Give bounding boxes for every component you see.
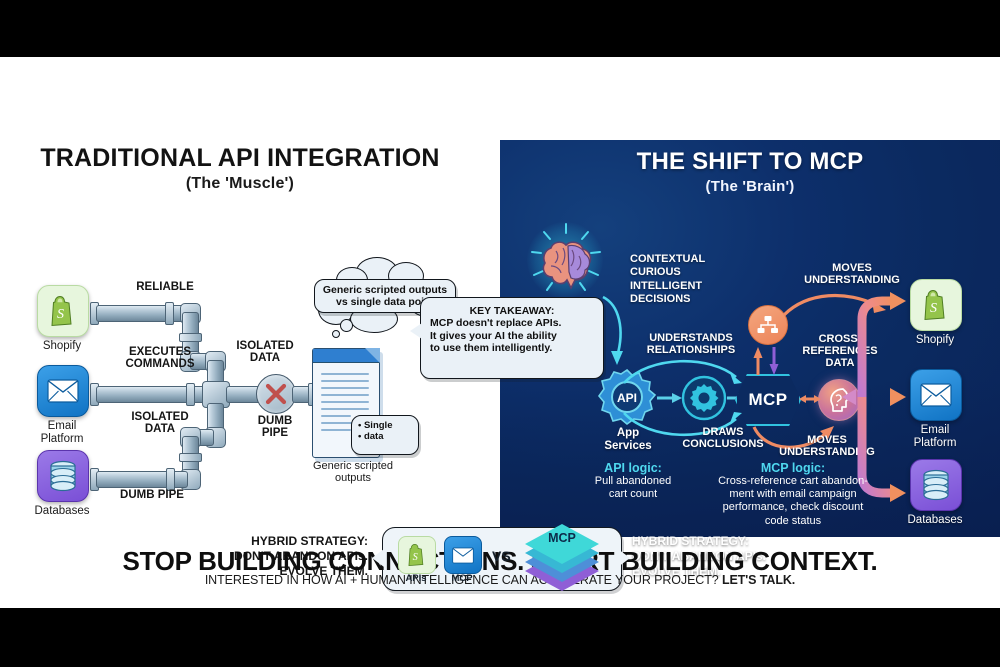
pipe-label-isolated-data-mid: ISOLATED DATA [105,411,215,436]
key-takeaway-heading: KEY TAKEAWAY: [430,305,594,317]
key-takeaway-tail-right [583,323,595,339]
pipe-flange [179,453,202,462]
target-tile-shopify[interactable]: S [910,279,962,331]
right-panel-title: THE SHIFT TO MCP [530,149,970,174]
svg-text:S: S [930,301,937,316]
glowing-brain-icon [525,220,607,302]
envelope-icon [452,547,474,564]
document-caption: Generic scripted outputs [298,460,408,484]
mcp-logic-line2: ment with email campaign [700,488,886,501]
api-logic-heading: API logic: [572,461,694,475]
pipe-label-dumb-pipe-bottom: DUMB PIPE [92,489,212,501]
pipe-flange [186,383,195,406]
target-label-databases: Databases [890,514,980,527]
mcp-logic-block: MCP logic: Cross-reference cart abandon-… [700,461,886,528]
source-tile-shopify[interactable]: S [37,285,89,337]
mcp-hex-label: MCP [749,390,788,410]
hybrid-caption-mcp: MCP [439,573,485,584]
right-panel-subtitle: (The 'Brain') [530,178,970,195]
pipe-label-reliable: RELIABLE [110,281,220,293]
pipe-flange [179,333,202,342]
sitemap-icon [757,315,779,335]
svg-text:S: S [57,307,64,322]
key-takeaway-callout: KEY TAKEAWAY: MCP doesn't replace APIs. … [420,297,604,379]
database-cylinder-icon [921,469,951,501]
hybrid-tile-mcp[interactable] [444,536,482,574]
hybrid-caption-apis: APIs [393,573,439,584]
document-corner-fold [365,348,380,363]
pipe-label-executes-commands: EXECUTES COMMANDS [105,346,215,371]
key-takeaway-line3: to use them intelligently. [430,342,594,354]
doc-callout-item2: • data [358,431,412,442]
infographic-canvas: TRADITIONAL API INTEGRATION (The 'Muscle… [0,0,1000,667]
pipe-label-dumb-pipe-valve: DUMB PIPE [230,415,320,440]
key-takeaway-tail-left [410,323,422,339]
shopify-bag-icon: S [921,289,951,321]
mcp-logic-heading: MCP logic: [700,461,886,475]
api-logic-block: API logic: Pull abandoned cart count [572,461,694,501]
label-understands-relationships: UNDERSTANDS RELATIONSHIPS [626,333,756,357]
svg-text:API: API [617,391,637,405]
api-logic-line1: Pull abandoned [572,475,694,488]
left-panel-subtitle: (The 'Muscle') [30,175,450,193]
envelope-icon [920,383,952,407]
target-label-email: Email Platform [890,424,980,449]
hybrid-card-tail-right [618,549,630,567]
brain-keyword-curious: CURIOUS [630,266,770,279]
envelope-icon [47,379,79,403]
source-label-shopify: Shopify [17,340,107,353]
api-to-gear-arrow [657,390,683,406]
x-cross-icon [265,383,287,405]
pipe-flange [165,302,174,325]
api-logic-line2: cart count [572,488,694,501]
infographic-body: TRADITIONAL API INTEGRATION (The 'Muscle… [0,57,1000,608]
svg-text:S: S [413,552,418,563]
understands-relationships-arc [620,353,750,387]
mcp-logic-line1: Cross-reference cart abandon- [700,475,886,488]
pipe-label-isolated-data-top: ISOLATED DATA [215,340,315,365]
thought-tail-bubble-small [332,330,340,338]
source-tile-databases[interactable] [37,450,89,502]
target-tile-email[interactable] [910,369,962,421]
doc-callout-item1: • Single [358,420,412,431]
key-takeaway-line1: MCP doesn't replace APIs. [430,317,594,329]
database-cylinder-icon [48,460,78,492]
mcp-logic-line3: performance, check discount [700,501,886,514]
hybrid-card-tail-left [372,549,384,567]
source-label-email-l2: Platform [17,433,107,446]
footer-subline: INTERESTED IN HOW AI + HUMAN INTELLIGENC… [0,573,1000,587]
mcp-logic-line4: code status [700,515,886,528]
thought-bubble-line1: Generic scripted outputs [323,284,447,296]
shopify-bag-icon: S [48,295,78,327]
source-tile-email[interactable] [37,365,89,417]
shopify-bag-icon: S [406,543,428,567]
hybrid-vs-label: VS [492,548,511,564]
mcp-layer-stack[interactable]: MCP [519,522,607,594]
mcp-aihead-double-arrow [799,391,821,407]
target-tile-databases[interactable] [910,459,962,511]
source-label-email: Email Platform [17,420,107,445]
target-label-shopify: Shopify [890,334,980,347]
key-takeaway-line2: It gives your AI the ability [430,330,594,342]
source-label-email-l1: Email [17,420,107,433]
left-panel-title: TRADITIONAL API INTEGRATION [30,145,450,171]
pipe-flange [166,468,175,491]
hybrid-tile-apis[interactable]: S [398,536,436,574]
dumb-pipe-valve[interactable] [256,374,296,414]
mcp-stack-label: MCP [525,531,599,545]
doc-callout-bubble: • Single • data [351,415,419,455]
brain-keyword-contextual: CONTEXTUAL [630,253,770,266]
source-label-databases: Databases [17,505,107,518]
footer-subline-cta: LET'S TALK. [722,573,795,587]
mcp-sitemap-arrow-pair [752,345,786,377]
thought-tail-bubble-large [340,319,353,332]
brain-keyword-intelligent: INTELLIGENT [630,280,770,293]
